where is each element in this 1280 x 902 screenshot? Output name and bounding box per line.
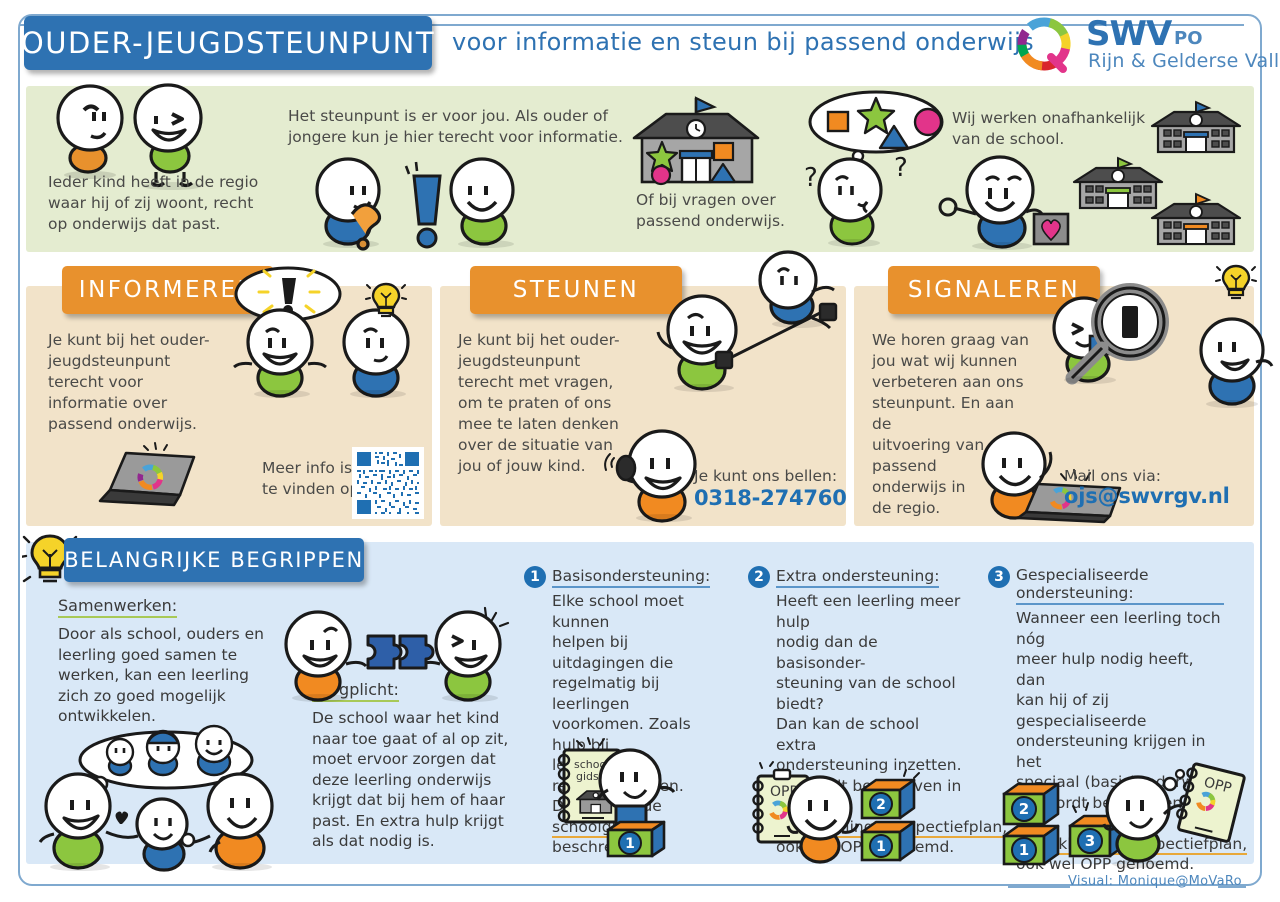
svg-text:3: 3 xyxy=(1085,832,1095,850)
footer-credit: Visual: Monique@MoVaRo xyxy=(1068,874,1220,889)
figure-opp-blocks-3: 2 1 3 xyxy=(988,758,1248,868)
figure-school-1 xyxy=(1148,100,1244,154)
swv-logo: SWV PO Rijn & Gelderse Vallei xyxy=(1010,8,1260,80)
figure-thinking-person: ? ? xyxy=(790,86,950,246)
term-zorgplicht: Zorgplicht: De school waar het kind naar… xyxy=(312,680,542,852)
figure-magnifier-person xyxy=(1052,282,1182,402)
figure-school-building xyxy=(626,96,776,188)
term-samenwerken: Samenwerken: Door als school, ouders en … xyxy=(58,596,308,727)
concepts-tab: BELANGRIJKE BEGRIPPEN xyxy=(64,538,364,582)
page-title: OUDER-JEUGDSTEUNPUNT xyxy=(21,26,435,60)
intro-text-2: Het steunpunt is er voor jou. Als ouder … xyxy=(288,106,623,148)
svg-text:2: 2 xyxy=(876,797,886,813)
figure-puzzle-people xyxy=(272,590,512,700)
email-address[interactable]: ojs@swvrgv.nl xyxy=(1064,484,1230,508)
lightbulb-icon-informeren xyxy=(368,280,404,320)
figure-schoolgids: school gids 1 xyxy=(548,740,688,860)
numbered-heading: Basisondersteuning: xyxy=(552,567,710,588)
figure-question-exclamation xyxy=(306,152,556,250)
intro-text-1: Ieder kind heeft in de regio waar hij of… xyxy=(48,172,258,235)
steunen-contact-label: Je kunt ons bellen: xyxy=(694,466,837,487)
numbered-heading: Extra ondersteuning: xyxy=(776,567,939,588)
intro-text-3: Of bij vragen over passend onderwijs. xyxy=(636,190,785,232)
poster-subtitle: voor informatie en steun bij passend ond… xyxy=(452,28,992,56)
svg-text:1: 1 xyxy=(1019,841,1029,859)
concepts-tab-label: BELANGRIJKE BEGRIPPEN xyxy=(64,548,364,572)
footer-rule-left xyxy=(1008,886,1070,888)
svg-text:?: ? xyxy=(804,163,818,193)
term-body: De school waar het kind naar toe gaat of… xyxy=(312,708,542,852)
svg-text:gids: gids xyxy=(576,770,599,783)
logo-suffix: PO xyxy=(1174,28,1203,49)
figure-steunen-climbing xyxy=(636,264,846,394)
svg-text:2: 2 xyxy=(1019,800,1029,818)
term-heading: Samenwerken: xyxy=(58,596,177,618)
logo-name: SWV xyxy=(1086,14,1171,54)
swv-ring-icon xyxy=(1010,10,1078,78)
number-badge: 2 xyxy=(748,566,770,588)
figure-signaleren-idea-person xyxy=(1196,300,1276,406)
svg-text:1: 1 xyxy=(876,839,886,855)
panel-tab-label: STEUNEN xyxy=(513,277,639,303)
term-body: Door als school, ouders en leerling goed… xyxy=(58,624,308,727)
qr-code[interactable] xyxy=(352,447,424,519)
logo-region: Rijn & Gelderse Vallei xyxy=(1088,50,1280,72)
poster-title-tab: OUDER-JEUGDSTEUNPUNT xyxy=(24,16,432,70)
number-badge: 3 xyxy=(988,566,1010,588)
numbered-heading: Gespecialiseerde ondersteuning: xyxy=(1016,566,1224,605)
intro-text-4: Wij werken onafhankelijk van de school. xyxy=(952,108,1145,150)
svg-text:1: 1 xyxy=(625,836,635,852)
panel-body-informeren: Je kunt bij het ouder- jeugdsteunpunt te… xyxy=(48,330,228,435)
informeren-contact-label: Meer info is te vinden op: xyxy=(262,458,365,500)
figure-school-3 xyxy=(1148,192,1244,246)
figure-opp-blocks-2: OPP xyxy=(748,762,928,866)
lightbulb-icon-signaleren xyxy=(1218,262,1254,302)
figure-laptop-informeren xyxy=(98,447,204,513)
number-badge: 1 xyxy=(524,566,546,588)
svg-text:?: ? xyxy=(894,153,908,183)
phone-number[interactable]: 0318-274760 xyxy=(694,486,847,510)
figure-family-group xyxy=(28,730,298,870)
infographic-poster: OUDER-JEUGDSTEUNPUNT voor informatie en … xyxy=(0,0,1280,902)
